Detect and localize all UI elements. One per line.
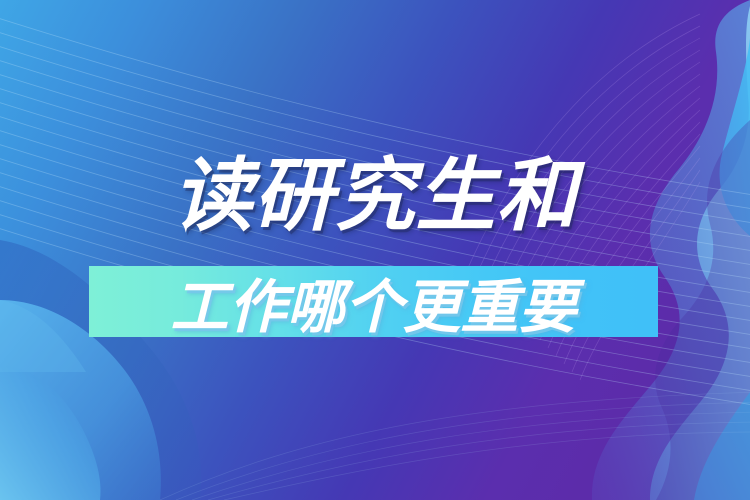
headline-group: 读研究生和 工作哪个更重要: [0, 0, 750, 500]
headline-line-1: 读研究生和: [0, 149, 750, 243]
promo-banner: 读研究生和 工作哪个更重要: [0, 0, 750, 500]
headline-line-2: 工作哪个更重要: [89, 266, 658, 337]
